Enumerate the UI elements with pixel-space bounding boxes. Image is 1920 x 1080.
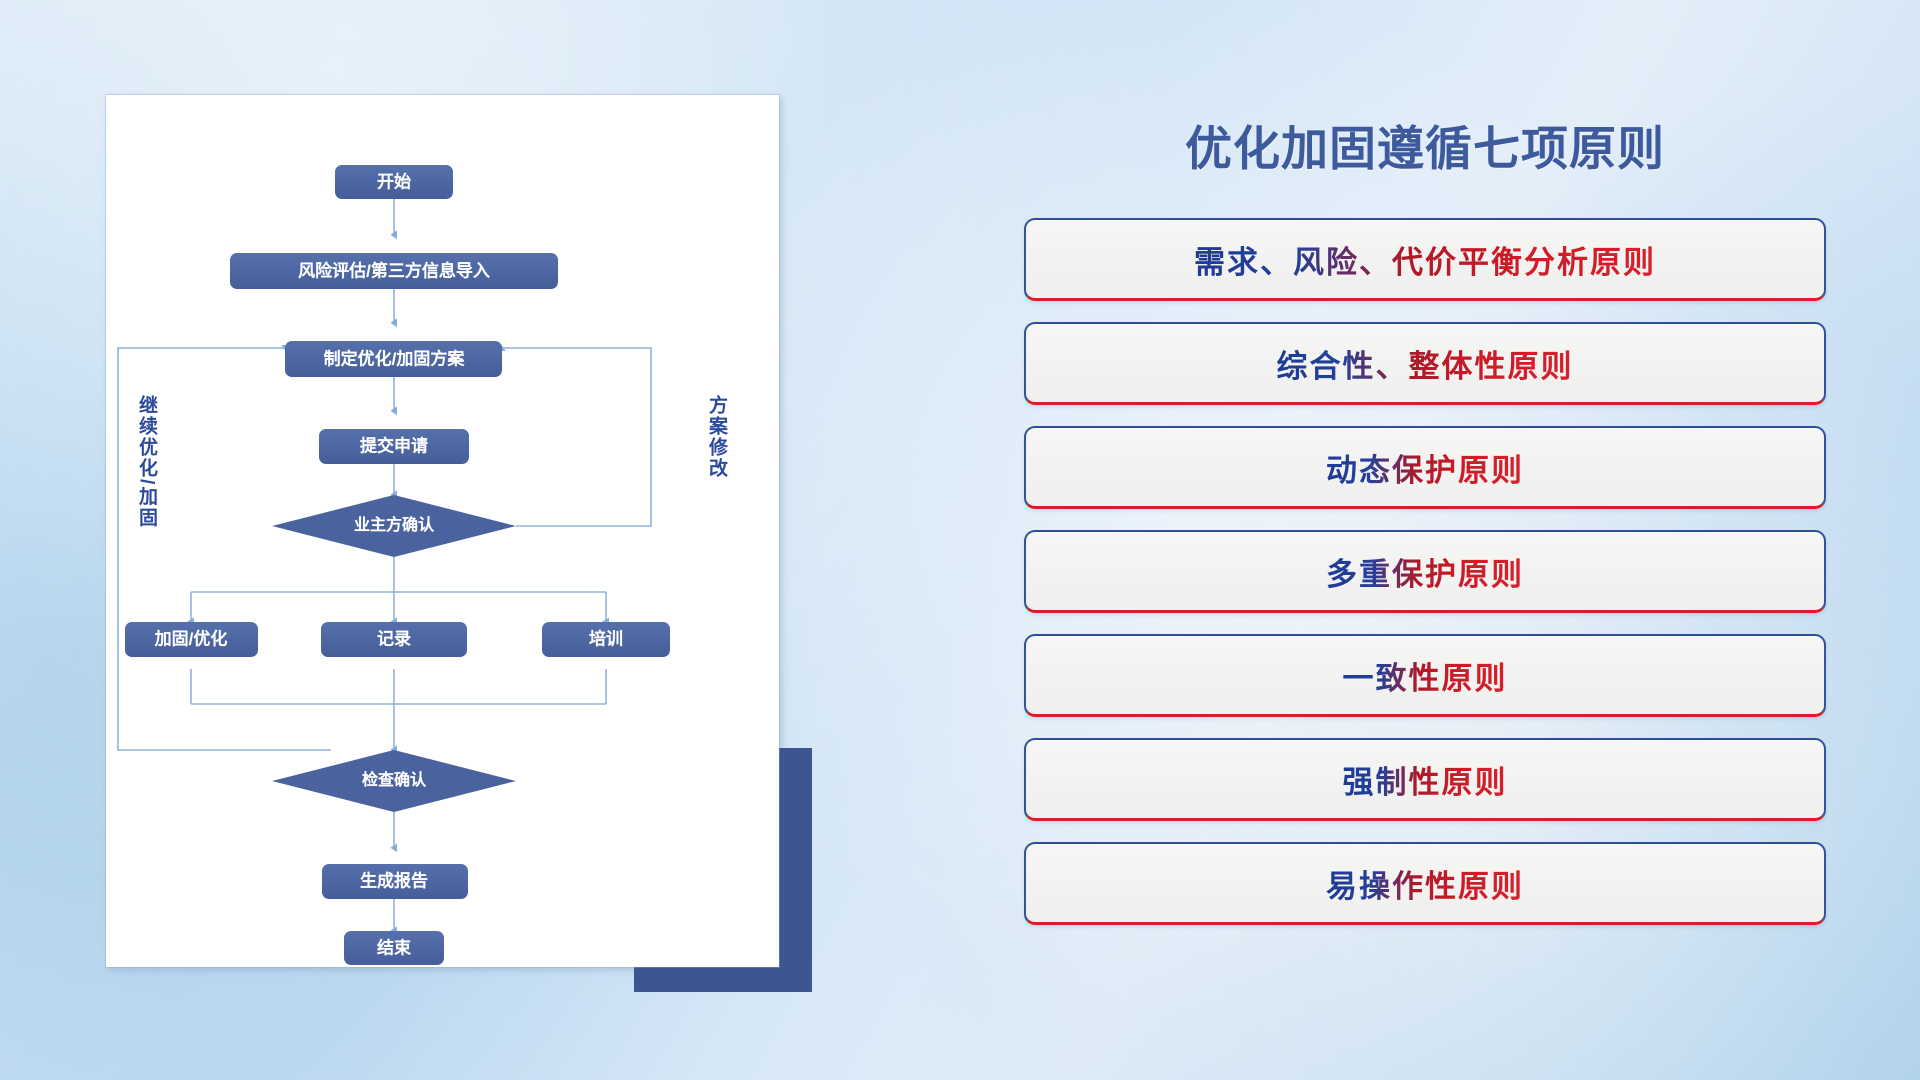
flow-node-end[interactable]: 结束 <box>344 931 444 965</box>
panel-title: 优化加固遵循七项原则 <box>1010 110 1840 179</box>
flow-node-risk-assessment[interactable]: 风险评估/第三方信息导入 <box>230 253 558 289</box>
flow-node-end-label: 结束 <box>377 937 411 957</box>
principle-item-2[interactable]: 综合性、整体性原则 <box>1024 322 1826 405</box>
principle-item-6[interactable]: 强制性原则 <box>1024 738 1826 821</box>
flow-node-training-label: 培训 <box>589 628 623 648</box>
flow-node-report-label: 生成报告 <box>360 870 428 890</box>
flow-node-check-confirm[interactable]: 检查确认 <box>272 750 516 812</box>
principle-list: 需求、风险、代价平衡分析原则 综合性、整体性原则 动态保护原则 多重保护原则 一… <box>1024 218 1826 925</box>
flow-node-training[interactable]: 培训 <box>542 622 670 657</box>
flow-node-start-label: 开始 <box>377 171 411 191</box>
flow-node-plan-label: 制定优化/加固方案 <box>324 348 466 368</box>
principle-label: 动态保护原则 <box>1326 445 1524 490</box>
principle-label: 强制性原则 <box>1343 757 1508 802</box>
flow-node-submit[interactable]: 提交申请 <box>319 429 469 464</box>
principle-label: 易操作性原则 <box>1326 861 1524 906</box>
flow-node-owner-confirm-label: 业主方确认 <box>354 515 435 534</box>
flow-node-record-label: 记录 <box>377 629 411 648</box>
flow-node-reinforce-label: 加固/优化 <box>154 628 228 648</box>
flow-node-submit-label: 提交申请 <box>360 435 428 455</box>
flow-node-reinforce[interactable]: 加固/优化 <box>125 622 258 657</box>
flow-node-report[interactable]: 生成报告 <box>322 864 468 899</box>
principle-label: 需求、风险、代价平衡分析原则 <box>1194 237 1656 282</box>
principle-label: 一致性原则 <box>1343 653 1508 698</box>
principle-item-7[interactable]: 易操作性原则 <box>1024 842 1826 925</box>
flow-node-owner-confirm[interactable]: 业主方确认 <box>272 495 516 557</box>
flow-node-risk-assessment-label: 风险评估/第三方信息导入 <box>298 260 490 280</box>
flowchart-diagram: 开始 风险评估/第三方信息导入 制定优化/加固方案 提交申请 业主方确认 加固/ <box>106 95 779 967</box>
principle-label: 综合性、整体性原则 <box>1277 341 1574 386</box>
flow-node-check-confirm-label: 检查确认 <box>362 770 427 789</box>
principle-item-4[interactable]: 多重保护原则 <box>1024 530 1826 613</box>
flow-node-record[interactable]: 记录 <box>321 622 467 657</box>
principle-item-5[interactable]: 一致性原则 <box>1024 634 1826 717</box>
principle-label: 多重保护原则 <box>1326 549 1524 594</box>
slide-canvas: 继续优化/加固 方案修改 <box>0 0 1920 1080</box>
principle-item-1[interactable]: 需求、风险、代价平衡分析原则 <box>1024 218 1826 301</box>
flow-node-start[interactable]: 开始 <box>335 165 453 199</box>
principle-item-3[interactable]: 动态保护原则 <box>1024 426 1826 509</box>
flow-node-plan[interactable]: 制定优化/加固方案 <box>285 341 502 377</box>
principles-panel: 优化加固遵循七项原则 需求、风险、代价平衡分析原则 综合性、整体性原则 动态保护… <box>1010 90 1840 1000</box>
flowchart-card: 继续优化/加固 方案修改 <box>106 95 779 967</box>
